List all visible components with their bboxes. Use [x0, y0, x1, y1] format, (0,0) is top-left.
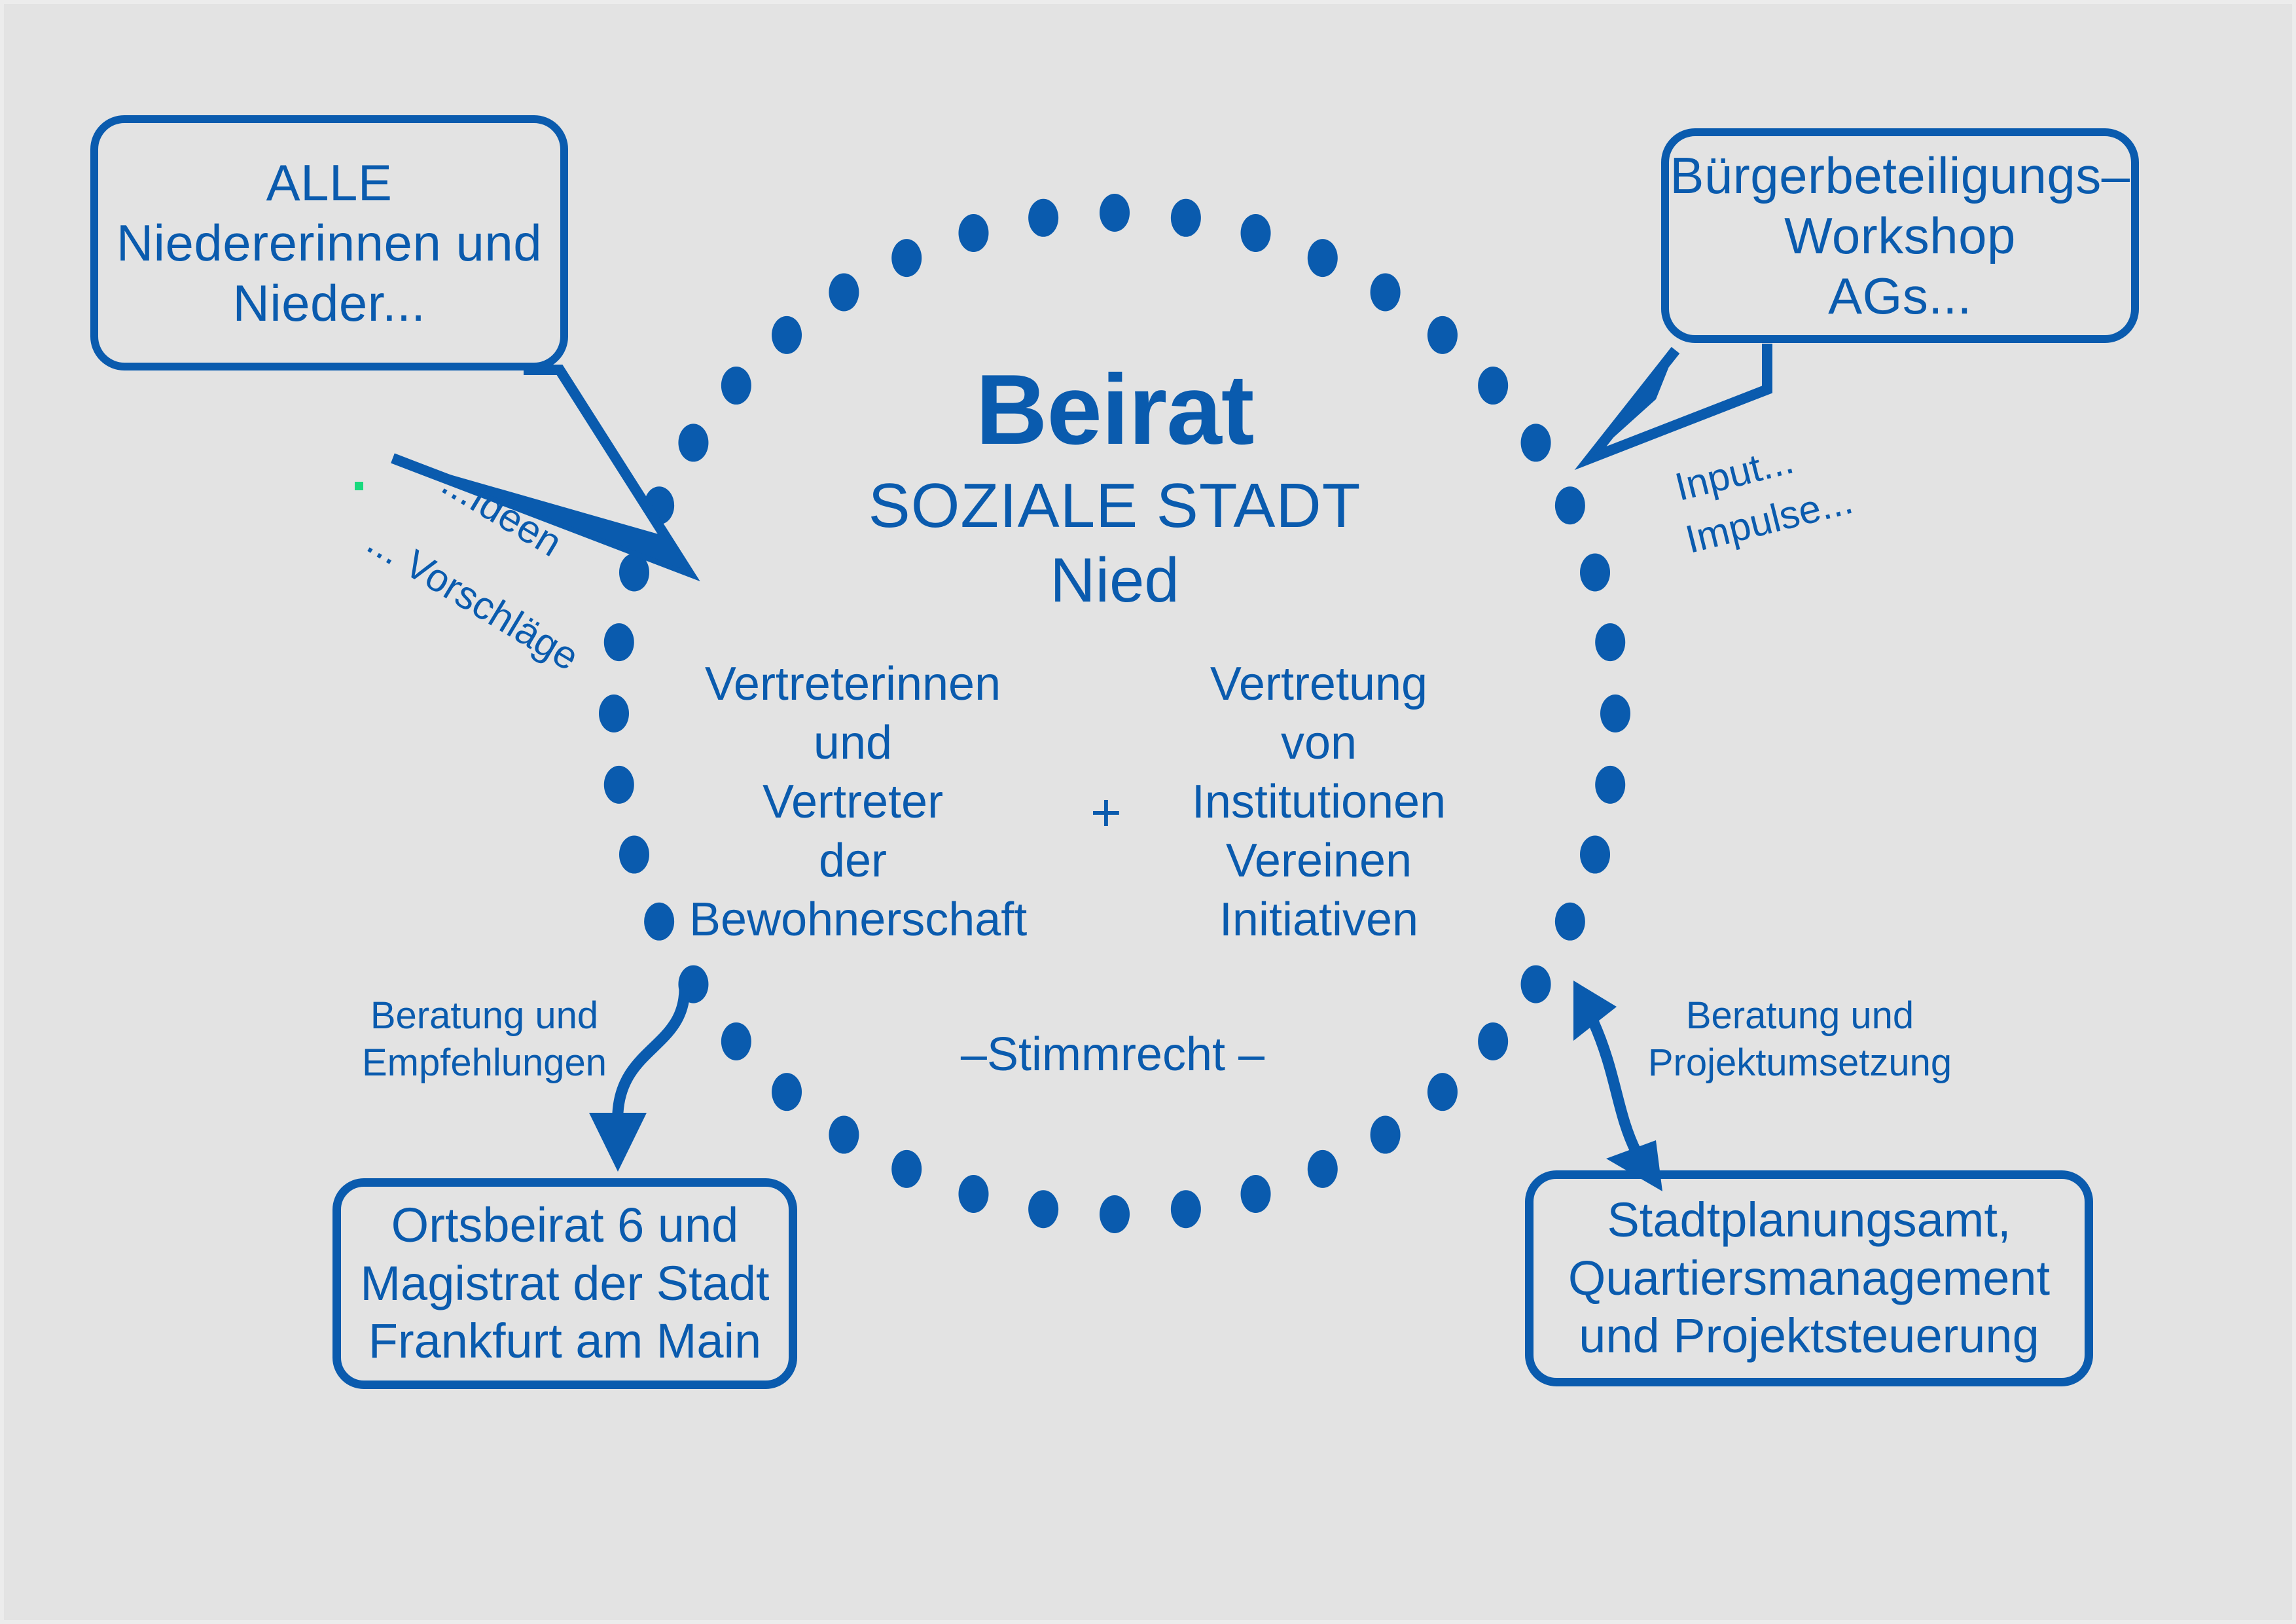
bubble-top-right-text: Bürgerbeteiligungs–WorkshopAGs...	[1670, 145, 2130, 326]
voting-note: –Stimmrecht –	[851, 1028, 1374, 1081]
page-subtitle: SOZIALE STADT	[787, 470, 1442, 541]
annotation-beratung-projektumsetzung: Beratung undProjektumsetzung	[1636, 992, 1964, 1087]
box-stadtplanungsamt[interactable]: Stadtplanungsamt,Quartiersmanagementund …	[1525, 1170, 2093, 1386]
box-stadtplanungsamt-text: Stadtplanungsamt,Quartiersmanagementund …	[1568, 1191, 2050, 1365]
bubble-tail-right	[1590, 344, 1767, 458]
box-ortsbeirat[interactable]: Ortsbeirat 6 undMagistrat der StadtFrank…	[332, 1178, 797, 1389]
page-title: Beirat	[787, 353, 1442, 467]
members-left-column: VertreterinnenundVertreterderBewohnersch…	[689, 655, 1016, 949]
members-right-column: VertretungvonInstitutionenVereinenInitia…	[1172, 655, 1466, 949]
bubble-top-left[interactable]: ALLENiedererinnen undNieder...	[90, 115, 568, 370]
bubble-top-right[interactable]: Bürgerbeteiligungs–WorkshopAGs...	[1661, 128, 2139, 343]
annotation-beratung-empfehlungen: Beratung undEmpfehlungen	[353, 992, 615, 1087]
plus-sign: +	[1067, 782, 1145, 843]
page-place: Nied	[787, 545, 1442, 616]
green-marker-icon	[355, 482, 363, 490]
diagram-canvas: ALLENiedererinnen undNieder... Bürgerbet…	[0, 0, 2296, 1624]
box-ortsbeirat-text: Ortsbeirat 6 undMagistrat der StadtFrank…	[360, 1197, 769, 1371]
bubble-top-left-text: ALLENiedererinnen undNieder...	[117, 153, 542, 333]
